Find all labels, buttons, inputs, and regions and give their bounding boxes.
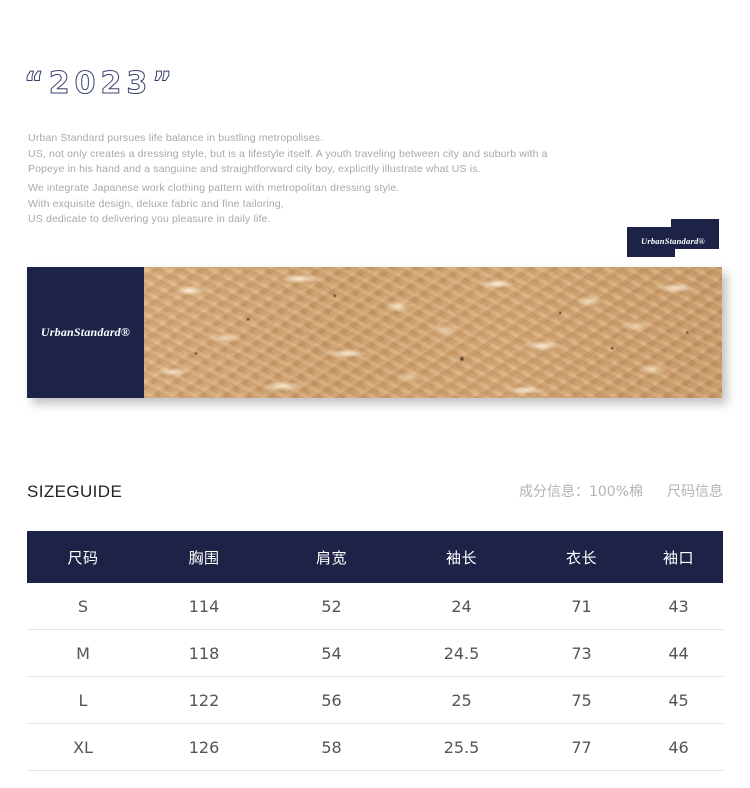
cell-length: 77	[529, 724, 634, 771]
cell-cuff: 46	[634, 724, 723, 771]
intro-line: We integrate Japanese work clothing patt…	[28, 181, 399, 197]
cell-length: 73	[529, 630, 634, 677]
cell-size: M	[27, 630, 139, 677]
cell-chest: 122	[139, 677, 269, 724]
column-header-sleeve: 袖长	[394, 531, 529, 583]
intro-line: Urban Standard pursues life balance in b…	[28, 131, 548, 147]
year-headline: “2023”	[24, 64, 177, 104]
cell-length: 71	[529, 583, 634, 630]
column-header-size: 尺码	[27, 531, 139, 583]
cell-shoulder: 54	[269, 630, 394, 677]
cell-shoulder: 58	[269, 724, 394, 771]
cell-sleeve: 25.5	[394, 724, 529, 771]
column-header-chest: 胸围	[139, 531, 269, 583]
cell-sleeve: 25	[394, 677, 529, 724]
intro-paragraph-1: Urban Standard pursues life balance in b…	[28, 131, 548, 178]
hero-brand-label: UrbanStandard®	[41, 325, 130, 340]
table-row: M 118 54 24.5 73 44	[27, 630, 723, 677]
cell-size: S	[27, 583, 139, 630]
table-row: S 114 52 24 71 43	[27, 583, 723, 630]
cell-cuff: 45	[634, 677, 723, 724]
cell-size: XL	[27, 724, 139, 771]
cell-shoulder: 56	[269, 677, 394, 724]
size-guide-meta: 成分信息：100%棉 尺码信息	[519, 480, 723, 504]
table-header: 尺码 胸围 肩宽 袖长 衣长 袖口	[27, 531, 723, 583]
cell-chest: 126	[139, 724, 269, 771]
hero-banner: UrbanStandard®	[27, 267, 722, 398]
brand-ribbon: UrbanStandard®	[627, 219, 719, 259]
table-body: S 114 52 24 71 43 M 118 54 24.5 73 44 L …	[27, 583, 723, 771]
column-header-length: 衣长	[529, 531, 634, 583]
intro-paragraph-2: We integrate Japanese work clothing patt…	[28, 181, 399, 228]
intro-line: Popeye in his hand and a sanguine and st…	[28, 162, 548, 178]
size-guide-title: SIZEGUIDE	[27, 480, 122, 504]
cell-length: 75	[529, 677, 634, 724]
column-header-cuff: 袖口	[634, 531, 723, 583]
year-label: “2023”	[24, 69, 177, 99]
intro-line: US, not only creates a dressing style, b…	[28, 147, 548, 163]
cell-sleeve: 24.5	[394, 630, 529, 677]
table-header-row: 尺码 胸围 肩宽 袖长 衣长 袖口	[27, 531, 723, 583]
cell-cuff: 44	[634, 630, 723, 677]
cell-chest: 118	[139, 630, 269, 677]
column-header-shoulder: 肩宽	[269, 531, 394, 583]
cell-cuff: 43	[634, 583, 723, 630]
cell-size: L	[27, 677, 139, 724]
size-guide-heading: SIZEGUIDE 成分信息：100%棉 尺码信息	[27, 480, 723, 508]
composition-info: 成分信息：100%棉	[519, 480, 643, 504]
hero-texture-image	[144, 267, 722, 398]
cell-chest: 114	[139, 583, 269, 630]
cell-shoulder: 52	[269, 583, 394, 630]
intro-line: US dedicate to delivering you pleasure i…	[28, 212, 399, 228]
intro-line: With exquisite design, deluxe fabric and…	[28, 197, 399, 213]
size-info-label: 尺码信息	[667, 480, 723, 504]
hero-brand-block: UrbanStandard®	[27, 267, 144, 398]
table-row: L 122 56 25 75 45	[27, 677, 723, 724]
ribbon-shape-icon	[627, 219, 719, 259]
size-guide-table: 尺码 胸围 肩宽 袖长 衣长 袖口 S 114 52 24 71 43 M 11…	[27, 531, 723, 771]
cell-sleeve: 24	[394, 583, 529, 630]
table-row: XL 126 58 25.5 77 46	[27, 724, 723, 771]
